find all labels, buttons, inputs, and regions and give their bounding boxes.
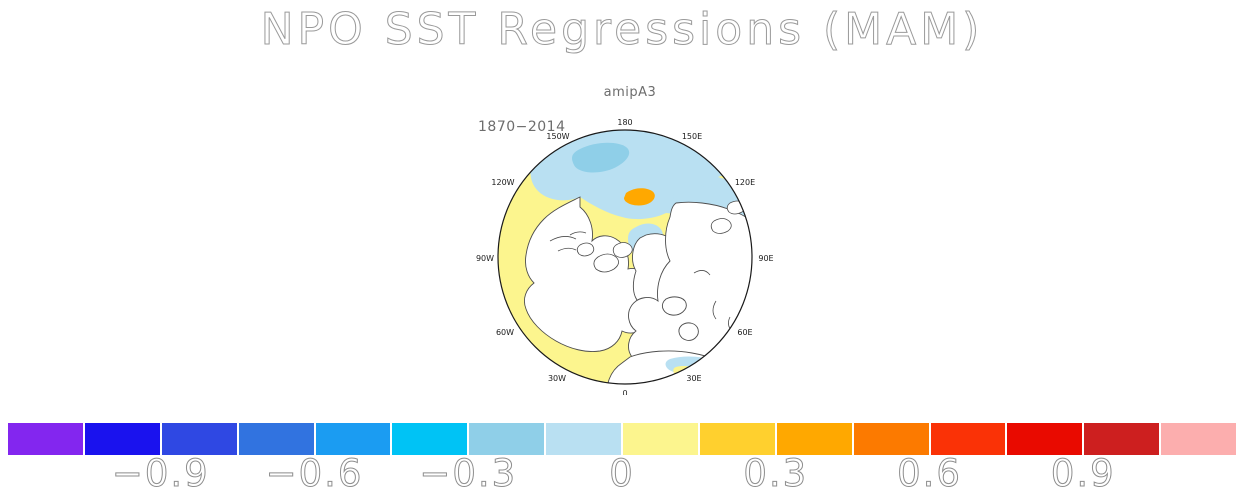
colorbar-tick-0: −0.9 (112, 452, 210, 495)
colorbar-cell-10 (776, 423, 853, 455)
colorbar-tick-labels: −0.9−0.6−0.300.30.60.9 (0, 452, 1244, 498)
lon-label-0: 0 (622, 389, 627, 395)
lon-label-150E: 150E (682, 132, 702, 141)
colorbar-cell-7 (545, 423, 622, 455)
colorbar-cell-9 (699, 423, 776, 455)
colorbar-cell-6 (468, 423, 545, 455)
lon-label-150W: 150W (546, 132, 569, 141)
map-data-layer (498, 125, 780, 395)
lon-label-90W: 90W (476, 254, 494, 263)
lon-label-30E: 30E (686, 374, 701, 383)
lon-label-90E: 90E (758, 254, 773, 263)
lon-label-120E: 120E (735, 178, 755, 187)
colorbar-tick-5: 0.6 (897, 452, 962, 495)
colorbar-cell-11 (853, 423, 930, 455)
page-title: NPO SST Regressions (MAM) (0, 4, 1244, 55)
colorbar-cell-13 (1006, 423, 1083, 455)
colorbar-cell-1 (84, 423, 161, 455)
lon-label-60E: 60E (737, 328, 752, 337)
colorbar-tick-1: −0.6 (266, 452, 364, 495)
lon-label-180: 180 (617, 118, 632, 127)
land-iceland (662, 297, 686, 315)
colorbar-cell-15 (1160, 423, 1237, 455)
lon-label-60W: 60W (496, 328, 514, 337)
colorbar-tick-4: 0.3 (743, 452, 808, 495)
colorbar (7, 423, 1237, 455)
map-panel: amipA3 1870−2014 (430, 85, 830, 395)
colorbar-tick-3: 0 (609, 452, 635, 495)
colorbar-cell-8 (622, 423, 699, 455)
colorbar-cell-12 (930, 423, 1007, 455)
colorbar-cell-5 (391, 423, 468, 455)
colorbar-cell-4 (315, 423, 392, 455)
colorbar-tick-6: 0.9 (1051, 452, 1116, 495)
colorbar-cell-0 (7, 423, 84, 455)
colorbar-cell-3 (238, 423, 315, 455)
colorbar-tick-2: −0.3 (419, 452, 517, 495)
lon-label-120W: 120W (491, 178, 514, 187)
polar-stereographic-map: 180 150E 120E 90E 60E 30E 0 30W 60W 90W … (430, 85, 830, 395)
colorbar-cell-2 (161, 423, 238, 455)
region-black-sea (716, 345, 738, 361)
region-red-sea-positive (746, 322, 773, 354)
lon-label-30W: 30W (548, 374, 566, 383)
land-british-isles (679, 323, 698, 340)
colorbar-cell-14 (1083, 423, 1160, 455)
